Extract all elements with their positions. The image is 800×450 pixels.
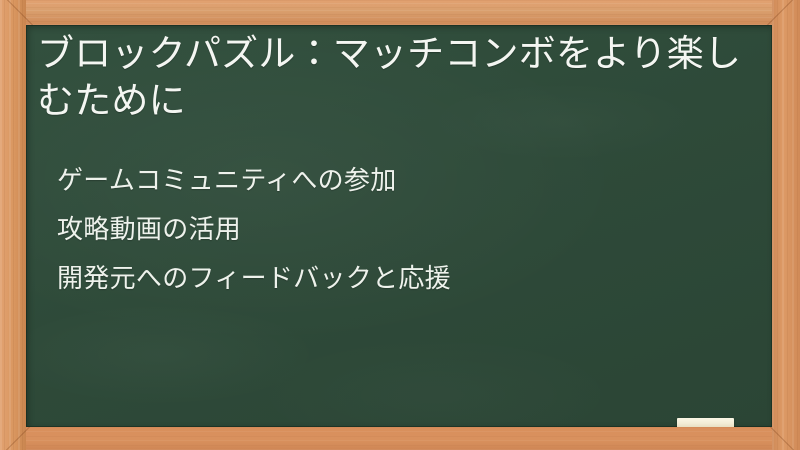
slide-canvas: ブロックパズル：マッチコンボをより楽しむために ゲームコミュニティへの参加 攻略…: [0, 0, 800, 450]
chalkboard-surface: ブロックパズル：マッチコンボをより楽しむために ゲームコミュニティへの参加 攻略…: [26, 25, 772, 427]
slide-title: ブロックパズル：マッチコンボをより楽しむために: [37, 30, 743, 124]
frame-rail-left: [0, 0, 26, 450]
chalk-stick-icon: [677, 418, 734, 427]
list-item: ゲームコミュニティへの参加: [57, 157, 747, 206]
bullet-list: ゲームコミュニティへの参加 攻略動画の活用 開発元へのフィードバックと応援: [57, 157, 747, 304]
frame-rail-bottom: [0, 427, 800, 450]
list-item: 開発元へのフィードバックと応援: [57, 255, 747, 304]
frame-rail-top: [0, 0, 800, 25]
list-item: 攻略動画の活用: [57, 206, 747, 255]
frame-rail-right: [772, 0, 800, 450]
